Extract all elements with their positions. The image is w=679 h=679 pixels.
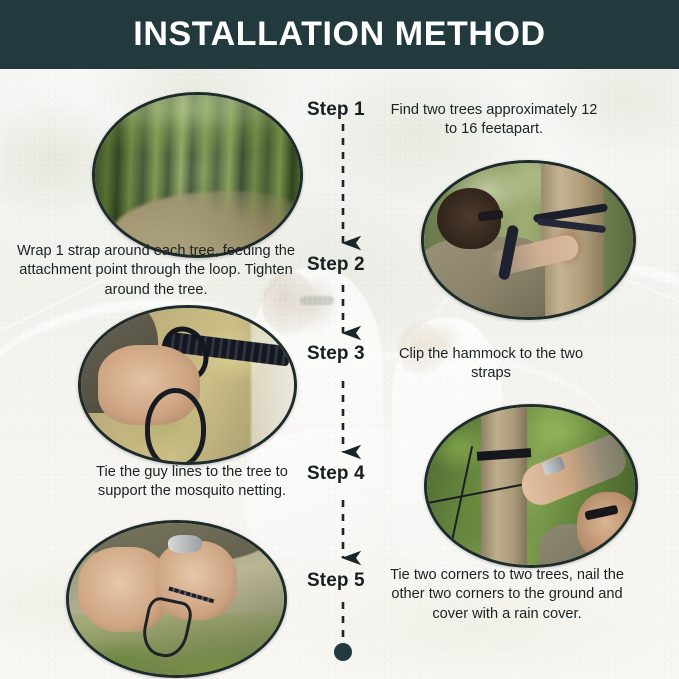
wristwatch	[168, 535, 202, 553]
guy-line-tree-photo-content	[427, 407, 635, 565]
poster-header: INSTALLATION METHOD	[0, 0, 679, 69]
strap-loop	[145, 388, 206, 465]
step-caption-5: Tie two corners to two trees, nail the o…	[383, 566, 631, 624]
person-head	[577, 492, 638, 558]
forest-vignette	[95, 95, 300, 255]
forest-trail-photo-content	[95, 95, 300, 255]
step-label-4: Step 4	[307, 463, 365, 485]
step-label-2: Step 2	[307, 254, 365, 276]
forest-trail-photo	[92, 92, 303, 258]
step-caption-4: Tie the guy lines to the tree to support…	[80, 463, 304, 502]
carabiner-clip-photo	[78, 305, 297, 465]
step-label-1: Step 1	[307, 99, 365, 121]
guy-line-tree-photo	[424, 404, 638, 568]
carabiner-clip-photo-content	[81, 308, 294, 462]
page-title: INSTALLATION METHOD	[133, 15, 545, 54]
strap-around-tree-photo	[421, 160, 636, 320]
step-label-5: Step 5	[307, 570, 365, 592]
hammock-fabric-edge	[251, 305, 297, 465]
strap-around-tree-photo-content	[424, 163, 633, 317]
step-caption-3: Clip the hammock to the two straps	[388, 345, 594, 384]
ground-stake-photo-content	[69, 523, 284, 675]
step-label-3: Step 3	[307, 343, 365, 365]
installation-method-poster: INSTALLATION METHOD	[0, 0, 679, 679]
step-caption-1: Find two trees approximately 12 to 16 fe…	[388, 101, 600, 140]
ground-stake-photo	[66, 520, 287, 678]
step-caption-2: Wrap 1 strap around each tree, feeding t…	[14, 242, 298, 300]
